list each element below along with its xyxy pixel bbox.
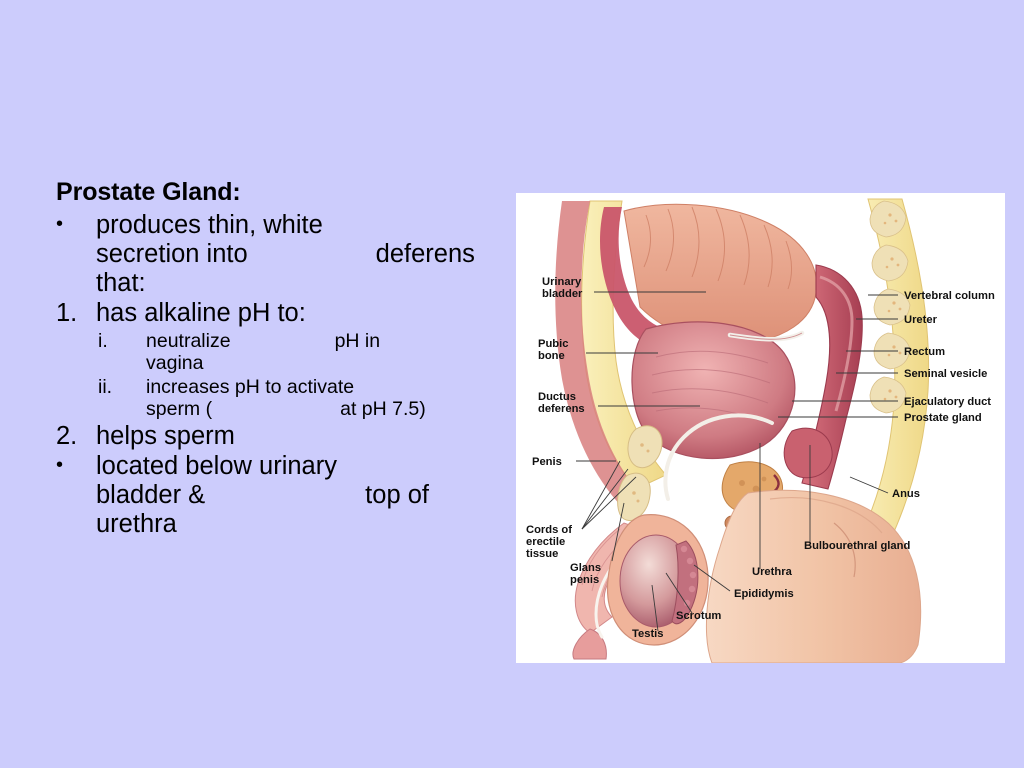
text-line-increases-ph-activate: increases pH to activate xyxy=(146,376,354,398)
text-block-increases-ph: increases pH to activate sperm (at pH 7.… xyxy=(146,376,504,420)
bullet-item-produces-secretion: • produces thin, white secretion intodef… xyxy=(56,211,504,298)
label-urethra: Urethra xyxy=(752,566,793,578)
label-scrotum: Scrotum xyxy=(676,610,721,622)
label-pubic-bone-line2: bone xyxy=(538,350,565,362)
text-line-secretion-into: secretion into xyxy=(96,240,248,268)
page-title: Prostate Gland: xyxy=(56,178,504,208)
list-roman-i: i. xyxy=(98,330,146,352)
text-line-vagina: vagina xyxy=(146,352,203,374)
label-vertebral-column: Vertebral column xyxy=(904,290,995,302)
text-line-produces-thin-white: produces thin, white xyxy=(96,211,323,239)
label-penis: Penis xyxy=(532,456,562,468)
label-ureter: Ureter xyxy=(904,314,938,326)
label-ductus-deferens-line2: deferens xyxy=(538,403,585,415)
label-testis: Testis xyxy=(632,628,664,640)
bullet-glyph-2: • xyxy=(56,452,96,479)
slide-text-body: Prostate Gland: • produces thin, white s… xyxy=(56,178,504,539)
text-line-that: that: xyxy=(96,269,146,297)
anatomy-diagram-image: Urinary bladder Pubic bone Ductus defere… xyxy=(516,193,1005,663)
label-anus: Anus xyxy=(892,488,920,500)
text-line-bladder-amp: bladder & xyxy=(96,481,205,509)
numbered-item-helps-sperm: 2. helps sperm xyxy=(56,422,504,451)
text-line-deferens: deferens xyxy=(376,240,475,268)
label-ejaculatory-duct: Ejaculatory duct xyxy=(904,396,991,408)
bullet-text-produces-secretion: produces thin, white secretion intodefer… xyxy=(96,211,504,298)
text-line-ph-in: pH in xyxy=(335,330,381,352)
list-number-1: 1. xyxy=(56,299,96,328)
label-pubic-bone-line1: Pubic xyxy=(538,338,568,350)
text-line-sperm-open-paren: sperm ( xyxy=(146,398,212,420)
label-cords-erectile-line1: Cords of xyxy=(526,524,572,536)
text-line-urethra: urethra xyxy=(96,510,177,538)
text-line-helps-sperm: helps sperm xyxy=(96,422,504,451)
label-urinary-bladder-line2: bladder xyxy=(542,288,583,300)
label-urinary-bladder-line1: Urinary xyxy=(542,276,582,288)
text-line-neutralize: neutralize xyxy=(146,330,231,352)
list-roman-ii: ii. xyxy=(98,376,146,398)
label-seminal-vesicle: Seminal vesicle xyxy=(904,368,987,380)
sub-item-increases-ph: ii. increases pH to activate sperm (at p… xyxy=(56,376,504,420)
label-glans-penis-line1: Glans xyxy=(570,562,601,574)
label-bulbourethral-gland: Bulbourethral gland xyxy=(804,540,910,552)
label-prostate-gland: Prostate gland xyxy=(904,412,982,424)
label-glans-penis-line2: penis xyxy=(570,574,599,586)
label-cords-erectile-line2: erectile xyxy=(526,536,565,548)
label-ductus-deferens-line1: Ductus xyxy=(538,391,576,403)
text-line-has-alkaline-ph: has alkaline pH to: xyxy=(96,299,504,328)
text-block-neutralize: neutralizepH in vagina xyxy=(146,330,504,374)
seminal-vesicle-shape xyxy=(784,428,832,478)
text-line-at-ph-75: at pH 7.5) xyxy=(340,398,426,420)
bullet-text-located-below-bladder: located below urinary bladder &top of ur… xyxy=(96,452,504,539)
label-epididymis: Epididymis xyxy=(734,588,794,600)
list-number-2: 2. xyxy=(56,422,96,451)
anatomy-diagram-svg: Urinary bladder Pubic bone Ductus defere… xyxy=(516,193,1005,663)
bullet-glyph: • xyxy=(56,211,96,238)
bullet-item-located-below-bladder: • located below urinary bladder &top of … xyxy=(56,452,504,539)
slide-canvas: Prostate Gland: • produces thin, white s… xyxy=(0,0,1024,768)
sub-item-neutralize: i. neutralizepH in vagina xyxy=(56,330,504,374)
label-cords-erectile-line3: tissue xyxy=(526,548,558,560)
text-line-top-of: top of xyxy=(365,481,429,509)
numbered-item-alkaline-ph: 1. has alkaline pH to: xyxy=(56,299,504,328)
text-line-located-below-urinary: located below urinary xyxy=(96,452,337,480)
label-rectum: Rectum xyxy=(904,346,945,358)
